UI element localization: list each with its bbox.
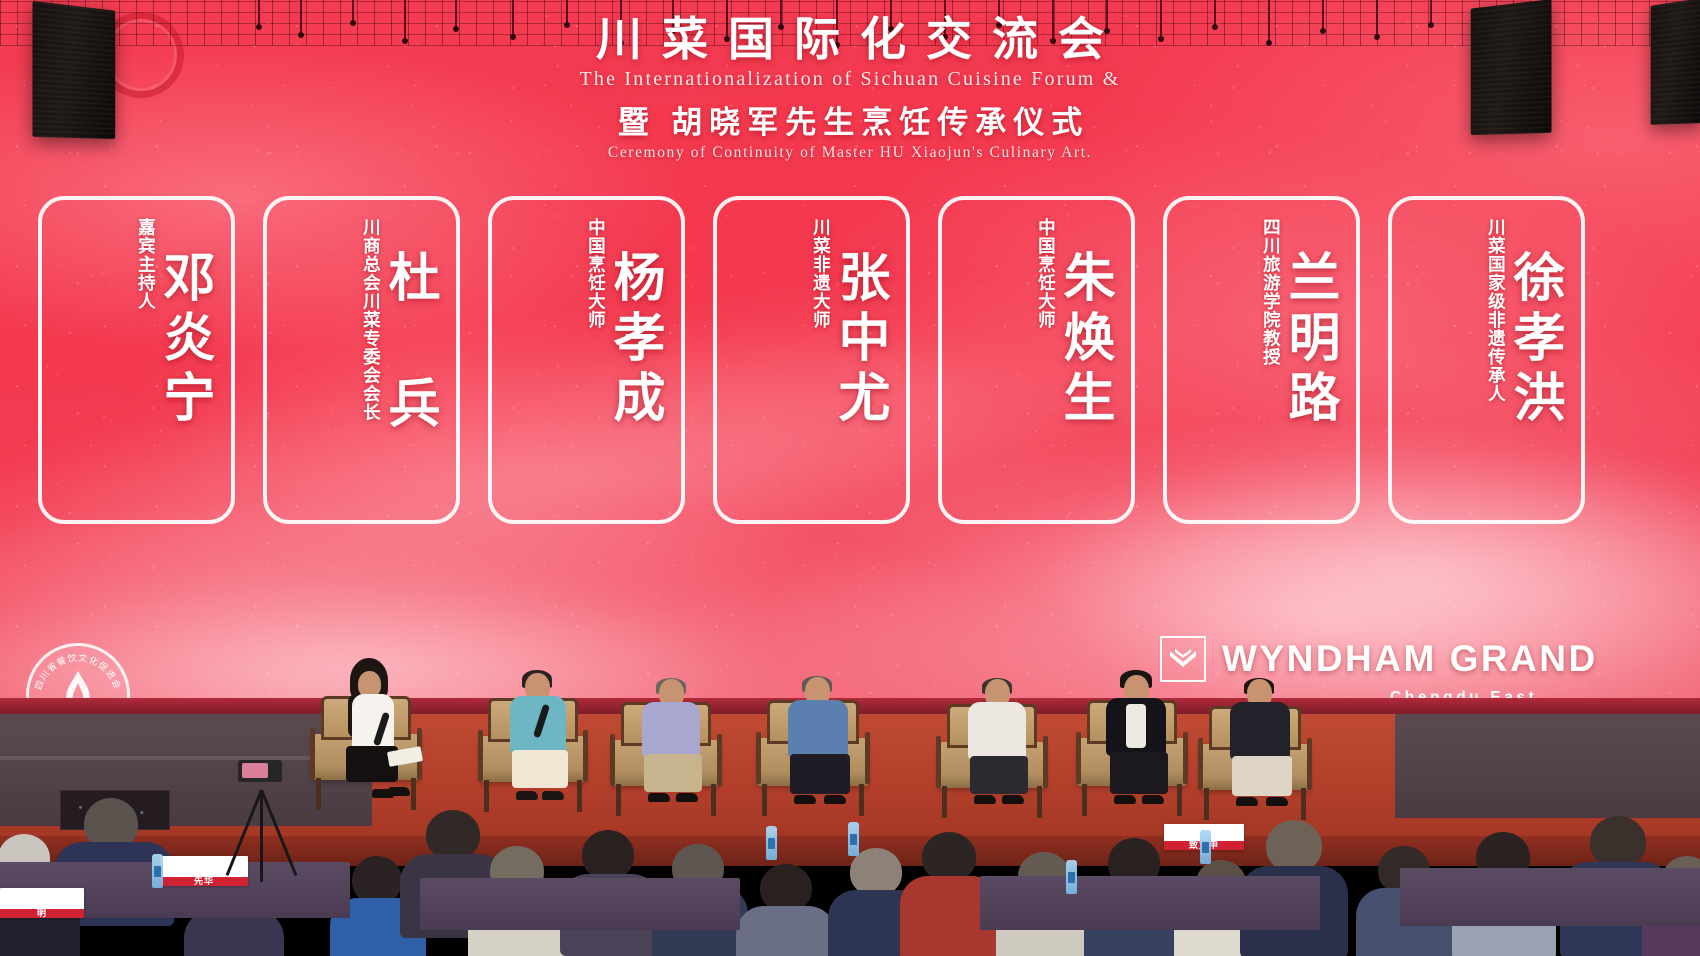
name-card-title: 四川旅游学院教授	[1261, 218, 1282, 366]
name-card-title: 中国烹饪大师	[586, 218, 607, 329]
name-card: 邓炎宁 嘉宾主持人	[38, 196, 235, 524]
name-card-title: 中国烹饪大师	[1036, 218, 1057, 329]
audience-table	[1400, 868, 1700, 926]
name-card-name: 张中尤	[831, 250, 886, 430]
stage-scene: 川菜国际化交流会 The Internationalization of Sic…	[0, 0, 1700, 956]
water-bottle	[1066, 860, 1077, 894]
name-card-title: 川商总会川菜专委会会长	[361, 218, 382, 422]
svg-text:四川省餐饮文化促进会: 四川省餐饮文化促进会	[33, 652, 124, 691]
water-bottle	[152, 854, 163, 888]
name-card-name: 杜 兵	[381, 250, 436, 436]
audience-table	[420, 878, 740, 930]
name-card-title: 嘉宾主持人	[136, 218, 157, 311]
event-subtitle-chinese: 暨 胡晓军先生烹饪传承仪式	[0, 97, 1700, 142]
name-card-name: 邓炎宁	[156, 250, 211, 430]
name-card: 徐孝洪 川菜国家级非遗传承人	[1388, 196, 1585, 524]
water-bottle	[1200, 830, 1211, 864]
name-card: 朱焕生 中国烹饪大师	[938, 196, 1135, 524]
event-subtitle-english: Ceremony of Continuity of Master HU Xiao…	[0, 144, 1700, 162]
placard-label: 先华	[194, 877, 214, 886]
name-card-title: 川菜国家级非遗传承人	[1486, 218, 1507, 403]
water-bottle	[766, 826, 777, 860]
audience-table	[980, 876, 1320, 930]
name-card-name: 朱焕生	[1056, 250, 1111, 430]
video-camera-tripod	[228, 760, 298, 890]
name-card-name: 杨孝成	[606, 250, 661, 430]
name-card-name: 兰明路	[1281, 250, 1336, 430]
name-card-name: 徐孝洪	[1506, 250, 1561, 430]
panelist-name-card-row: 邓炎宁 嘉宾主持人 杜 兵 川商总会川菜专委会会长 杨孝成 中国烹饪大师 张中尤…	[38, 196, 1678, 526]
audience-name-placard: 明	[0, 888, 84, 918]
audience-member	[736, 864, 836, 956]
placard-label: 明	[37, 909, 47, 918]
name-card: 兰明路 四川旅游学院教授	[1163, 196, 1360, 524]
name-card-title: 川菜非遗大师	[811, 218, 832, 329]
event-title-block: 川菜国际化交流会 The Internationalization of Sic…	[0, 14, 1700, 162]
water-bottle	[848, 822, 859, 856]
name-card: 杨孝成 中国烹饪大师	[488, 196, 685, 524]
event-title-chinese: 川菜国际化交流会	[0, 14, 1700, 65]
event-title-english: The Internationalization of Sichuan Cuis…	[0, 68, 1700, 91]
name-card: 张中尤 川菜非遗大师	[713, 196, 910, 524]
name-card: 杜 兵 川商总会川菜专委会会长	[263, 196, 460, 524]
camera-screen	[242, 763, 268, 778]
